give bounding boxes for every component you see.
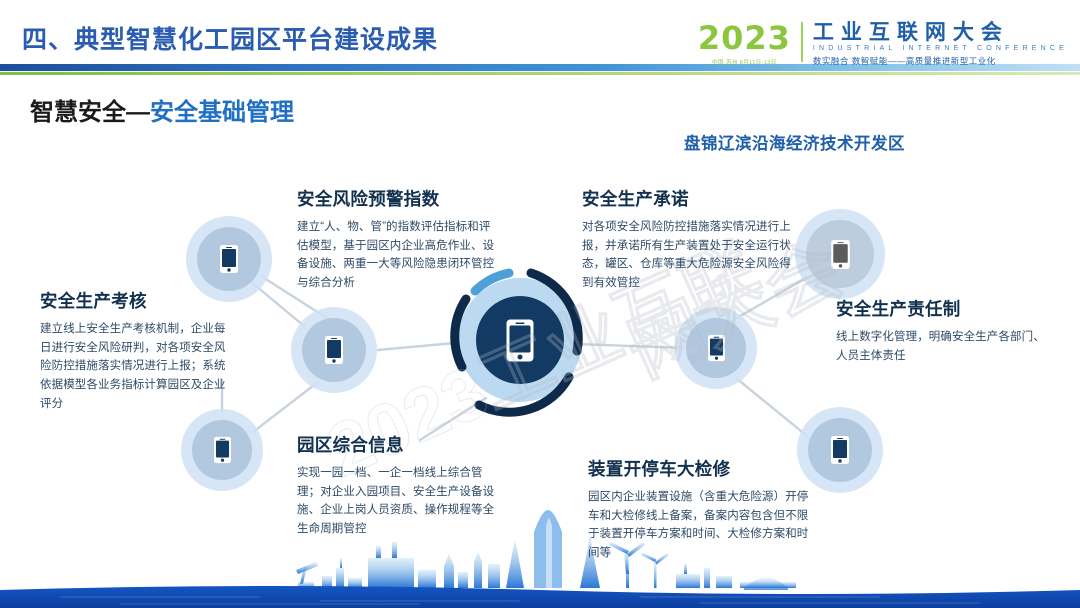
mobile-phone-icon: [324, 335, 344, 365]
node-assessment[interactable]: [302, 318, 366, 382]
block-body: 线上数字化管理，明确安全生产各部门、人员主体责任: [836, 328, 1048, 365]
block-startup-shutdown-overhaul: 装置开停车大检修 园区内企业装置设施（含重大危险源）开停车和大检修线上备案，备案…: [588, 456, 818, 563]
node-commitment[interactable]: [686, 318, 746, 378]
mobile-phone-icon: [707, 334, 726, 362]
mobile-phone-icon: [219, 244, 239, 274]
block-title: 装置开停车大检修: [588, 456, 818, 481]
block-title: 安全生产责任制: [836, 296, 1048, 321]
node-park-info[interactable]: [192, 420, 252, 480]
block-body: 建立“人、物、管”的指数评估指标和评估模型，基于园区内企业高危作业、设备设施、两…: [297, 218, 497, 293]
block-title: 安全风险预警指数: [297, 186, 497, 211]
block-body: 对各项安全风险防控措施落实情况进行上报，并承诺所有生产装置处于安全运行状态，罐区…: [582, 218, 794, 293]
block-body: 建立线上安全生产考核机制，企业每日进行安全风险研判，对各项安全风险防控措施落实情…: [40, 320, 230, 413]
mobile-phone-icon: [213, 436, 232, 464]
block-safety-responsibility-system: 安全生产责任制 线上数字化管理，明确安全生产各部门、人员主体责任: [836, 296, 1048, 365]
block-title: 园区综合信息: [297, 432, 501, 457]
block-body: 园区内企业装置设施（含重大危险源）开停车和大检修线上备案，备案内容包含但不限于装…: [588, 488, 818, 563]
node-responsibility[interactable]: [806, 220, 874, 288]
hub-center[interactable]: [468, 288, 572, 392]
block-risk-warning-index: 安全风险预警指数 建立“人、物、管”的指数评估指标和评估模型，基于园区内企业高危…: [297, 186, 497, 293]
slide-canvas: 四、典型智慧化工园区平台建设成果 2023 中国·苏州 9月11日-13日 工业…: [0, 0, 1080, 608]
mobile-phone-icon: [830, 239, 851, 270]
block-park-comprehensive-info: 园区综合信息 实现一园一档、一企一档线上综合管理；对企业入园项目、安全生产设备设…: [297, 432, 501, 539]
block-body: 实现一园一档、一企一档线上综合管理；对企业入园项目、安全生产设备设施、企业上岗人…: [297, 464, 501, 539]
block-safety-production-assessment: 安全生产考核 建立线上安全生产考核机制，企业每日进行安全风险研判，对各项安全风险…: [40, 288, 230, 413]
block-safety-production-commitment: 安全生产承诺 对各项安全风险防控措施落实情况进行上报，并承诺所有生产装置处于安全…: [582, 186, 794, 293]
mobile-phone-icon: [830, 435, 850, 465]
block-title: 安全生产承诺: [582, 186, 794, 211]
node-risk-index[interactable]: [197, 227, 261, 291]
block-title: 安全生产考核: [40, 288, 230, 313]
